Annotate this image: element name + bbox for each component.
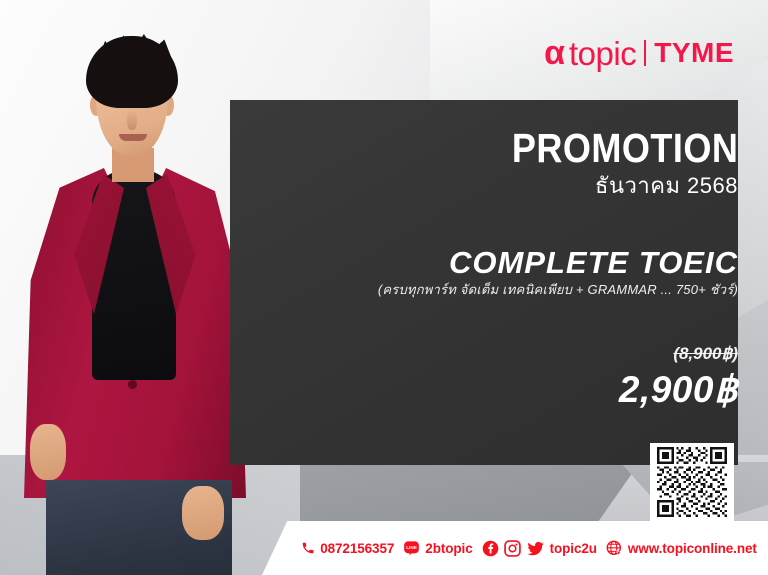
facebook-icon[interactable] xyxy=(482,540,499,557)
line-icon: LINE xyxy=(403,540,420,556)
svg-text:LINE: LINE xyxy=(406,545,417,550)
model-mouth xyxy=(119,134,147,141)
model-hand-right xyxy=(182,486,224,540)
social-handle: topic2u xyxy=(550,541,597,556)
brand-name: topic xyxy=(569,37,636,70)
logo-divider xyxy=(644,40,646,66)
promotion-title: PROMOTION xyxy=(512,128,738,169)
discounted-price: 2,900฿ xyxy=(619,371,738,408)
phone-number: 0872156357 xyxy=(320,541,394,556)
website-url: www.topiconline.net xyxy=(628,541,757,556)
contact-footer: 0872156357 LINE 2btopic xyxy=(262,521,768,575)
contact-website[interactable]: www.topiconline.net xyxy=(606,540,757,557)
twitter-icon[interactable] xyxy=(526,540,545,557)
qr-code[interactable] xyxy=(650,443,734,521)
promotion-date: ธันวาคม 2568 xyxy=(595,172,738,201)
model-hand-left xyxy=(30,424,66,480)
course-title: COMPLETE TOEIC xyxy=(449,247,738,278)
contact-phone[interactable]: 0872156357 xyxy=(301,541,394,556)
line-id: 2btopic xyxy=(425,541,472,556)
social-icon-group: topic2u xyxy=(482,540,597,557)
brand-logo: α topic TYME xyxy=(544,36,734,70)
original-price: (8,900฿) xyxy=(673,345,738,362)
instructor-photo xyxy=(0,28,252,575)
brand-sub-name: TYME xyxy=(654,39,734,67)
promotion-banner: α topic TYME PROMOTION ธันวาคม 2568 COMP… xyxy=(0,0,768,575)
globe-icon xyxy=(606,540,623,557)
phone-icon xyxy=(301,541,315,555)
contact-line[interactable]: LINE 2btopic xyxy=(403,540,472,556)
model-jacket-button xyxy=(128,380,137,389)
alpha-icon: α xyxy=(544,36,564,70)
model-nose xyxy=(127,110,137,130)
course-subtitle: (ครบทุกพาร์ท จัดเต็ม เทคนิคเพียบ + GRAMM… xyxy=(378,282,738,299)
instagram-icon[interactable] xyxy=(504,540,521,557)
qr-code-graphic xyxy=(654,447,730,517)
